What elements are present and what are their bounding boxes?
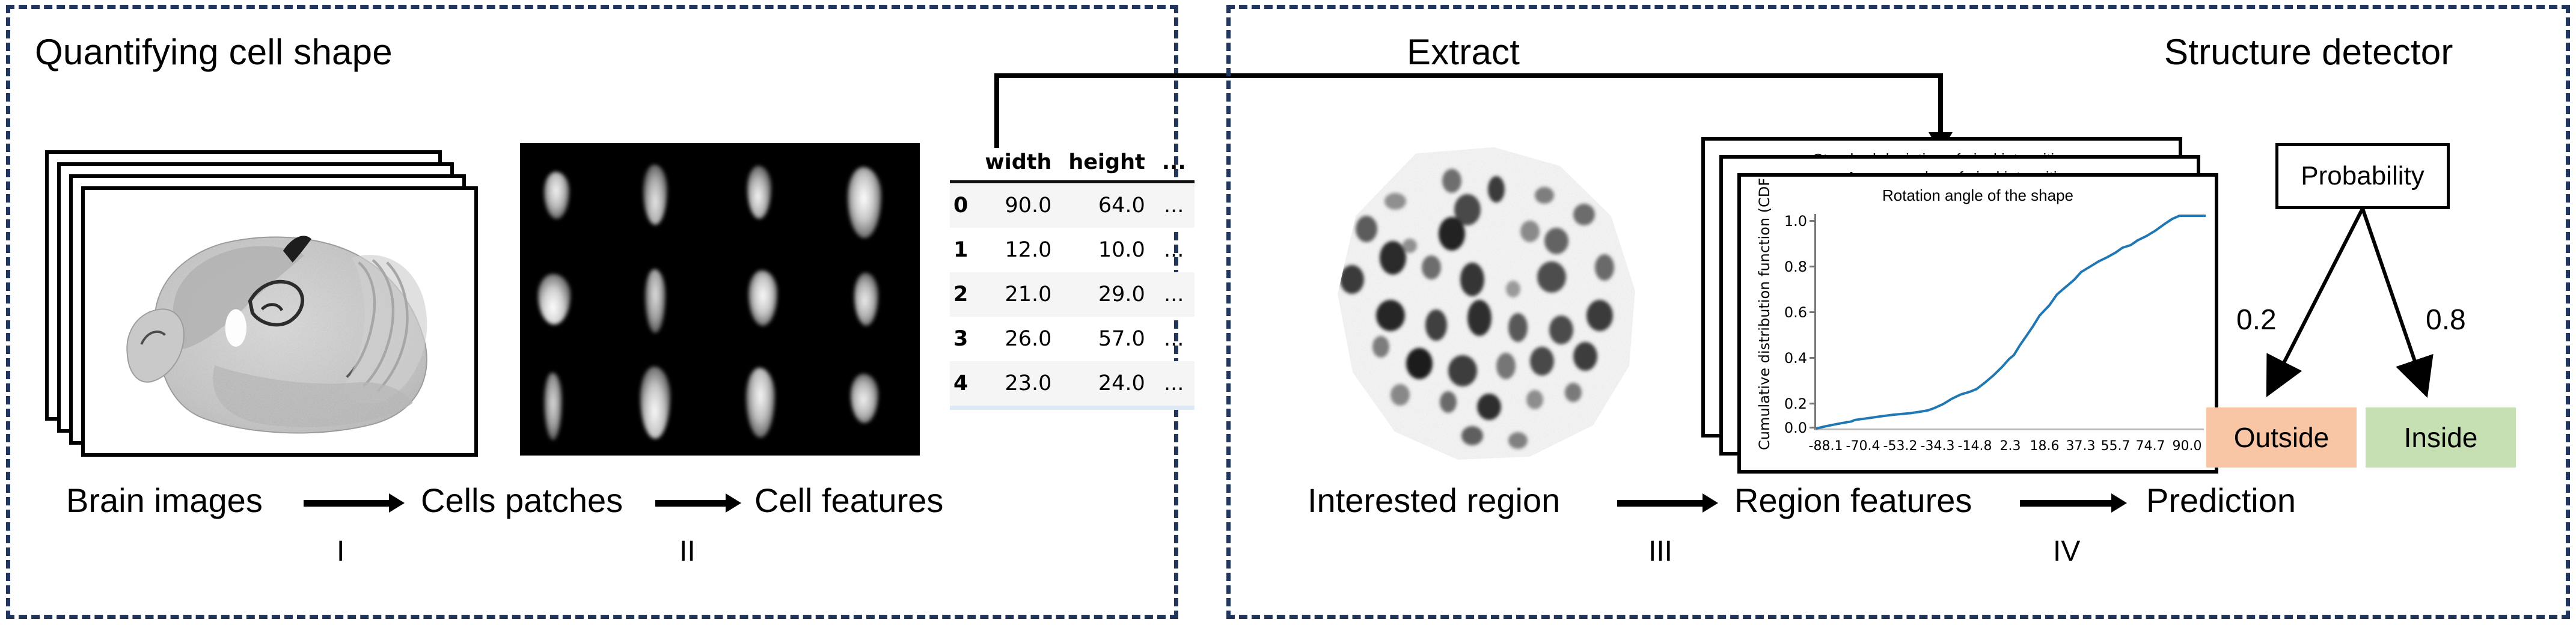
brain-section-image xyxy=(85,190,474,453)
table-header-more: ... xyxy=(1154,144,1195,182)
row-height: 57.0 xyxy=(1060,317,1153,361)
table-row: 0 90.0 64.0 ... xyxy=(950,182,1195,228)
extract-connector-riser xyxy=(994,73,999,148)
step-numeral-ii: II xyxy=(679,535,696,568)
page-title-left: Quantifying cell shape xyxy=(35,31,393,73)
page-title-detector: Structure detector xyxy=(2164,31,2453,73)
x-tick-label: -70.4 xyxy=(1842,439,1884,454)
flow-arrow-iii xyxy=(1617,500,1704,507)
cdf-line-series xyxy=(1816,214,2206,430)
branch-weight-outside: 0.2 xyxy=(2236,303,2277,337)
flow-label-cells-patches: Cells patches xyxy=(421,481,623,520)
row-height: 10.0 xyxy=(1060,228,1153,272)
cell-patch xyxy=(544,172,569,219)
x-tick-label: -53.2 xyxy=(1879,439,1921,454)
flow-label-cell-features: Cell features xyxy=(754,481,943,520)
outcome-label-inside: Inside xyxy=(2404,421,2478,454)
table-header-row: width height ... xyxy=(950,144,1195,182)
row-width: 21.0 xyxy=(976,272,1060,317)
cell-patch xyxy=(538,274,571,325)
x-tick-label: -14.8 xyxy=(1954,439,1996,454)
cell-patch xyxy=(848,167,881,238)
step-numeral-i: I xyxy=(337,535,344,568)
outcome-label-outside: Outside xyxy=(2234,421,2330,454)
cell-patches-image xyxy=(520,143,920,456)
row-height: 64.0 xyxy=(1060,182,1153,228)
row-index: 0 xyxy=(950,182,976,228)
table-row: 3 26.0 57.0 ... xyxy=(950,317,1195,361)
y-tick-label: 0.6 xyxy=(1769,304,1807,321)
flow-label-interested-region: Interested region xyxy=(1308,481,1560,520)
page-title-extract: Extract xyxy=(1407,31,1520,73)
cell-features-table: width height ... 0 90.0 64.0 ... 1 12.0 … xyxy=(950,144,1148,410)
row-height: 29.0 xyxy=(1060,272,1153,317)
region-feature-card-rotation: Rotation angle of the shape Cumulative d… xyxy=(1737,173,2218,474)
row-width: 26.0 xyxy=(976,317,1060,361)
step-numeral-iii: III xyxy=(1648,535,1672,568)
row-width: 90.0 xyxy=(976,182,1060,228)
row-more: ... xyxy=(1154,272,1195,317)
row-more: ... xyxy=(1154,228,1195,272)
x-tick-label: 90.0 xyxy=(2165,439,2209,454)
cell-patch xyxy=(747,166,771,219)
cell-patch xyxy=(746,368,775,437)
table-row: 4 23.0 24.0 ... xyxy=(950,361,1195,408)
brain-images-stack xyxy=(45,150,478,457)
row-more: ... xyxy=(1154,317,1195,361)
brain-sheet-1 xyxy=(81,186,478,457)
outcome-box-inside: Inside xyxy=(2366,407,2516,468)
cell-patch xyxy=(854,273,878,326)
cell-patch xyxy=(643,165,667,225)
flow-arrow-i xyxy=(304,500,391,507)
flow-label-region-features: Region features xyxy=(1734,481,1972,520)
row-index: 4 xyxy=(950,361,976,408)
row-width: 23.0 xyxy=(976,361,1060,408)
x-tick-label: 2.3 xyxy=(1992,439,2028,454)
row-index: 3 xyxy=(950,317,976,361)
x-tick-label: -34.3 xyxy=(1917,439,1959,454)
chart-plot-area xyxy=(1814,214,2204,430)
branch-arrow-outside xyxy=(2271,209,2363,388)
cell-patch xyxy=(851,374,878,423)
table-header-width: width xyxy=(976,144,1060,182)
table-header-height: height xyxy=(1060,144,1153,182)
row-width: 12.0 xyxy=(976,228,1060,272)
branch-weight-inside: 0.8 xyxy=(2426,303,2466,337)
y-tick-label: 1.0 xyxy=(1769,213,1807,230)
row-index: 1 xyxy=(950,228,976,272)
step-numeral-iv: IV xyxy=(2053,535,2080,568)
y-tick-label: 0.2 xyxy=(1769,395,1807,412)
flow-label-prediction: Prediction xyxy=(2146,481,2296,520)
x-tick-label: 74.7 xyxy=(2131,439,2170,454)
table-row: 1 12.0 10.0 ... xyxy=(950,228,1195,272)
row-more: ... xyxy=(1154,361,1195,408)
flow-arrow-iv xyxy=(2020,500,2113,507)
x-tick-label: -88.1 xyxy=(1805,439,1847,454)
y-tick-label: 0.8 xyxy=(1769,258,1807,275)
x-tick-label: 18.6 xyxy=(2025,439,2064,454)
branch-arrow-inside xyxy=(2363,209,2424,388)
outcome-box-outside: Outside xyxy=(2206,407,2357,468)
flow-arrow-ii xyxy=(655,500,727,507)
flow-label-brain-images: Brain images xyxy=(66,481,263,520)
row-height: 24.0 xyxy=(1060,361,1153,408)
probability-box: Probability xyxy=(2275,143,2450,209)
x-tick-label: 55.7 xyxy=(2096,439,2135,454)
y-tick-label: 0.4 xyxy=(1769,350,1807,367)
x-tick-label: 37.3 xyxy=(2061,439,2100,454)
table-header-index xyxy=(950,144,976,182)
row-index: 2 xyxy=(950,272,976,317)
cell-patch xyxy=(640,367,670,439)
row-more: ... xyxy=(1154,182,1195,228)
table-row: 2 21.0 29.0 ... xyxy=(950,272,1195,317)
probability-label: Probability xyxy=(2301,161,2424,191)
chart-title: Rotation angle of the shape xyxy=(1741,186,2215,205)
cell-patch xyxy=(748,270,777,326)
cell-patch xyxy=(544,373,562,440)
y-tick-label: 0.0 xyxy=(1769,419,1807,436)
cell-patch xyxy=(645,269,665,333)
